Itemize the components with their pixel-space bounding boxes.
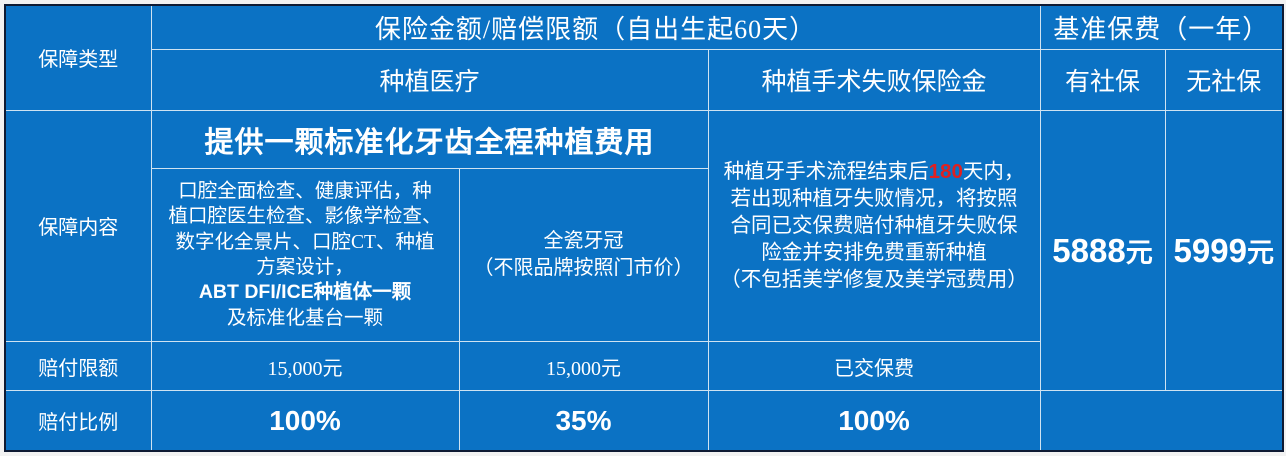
header-sum-insured: 保险金额/赔偿限额（自出生起60天） — [151, 5, 1040, 49]
detail-line4: 方案设计， — [256, 257, 354, 278]
coverage-banner: 提供一颗标准化牙齿全程种植费用 — [151, 110, 708, 168]
premium-with-social-unit: 元 — [1126, 238, 1153, 268]
premium-with-social-insurance: 5888元 — [1040, 110, 1165, 390]
failure-desc-line2: 若出现种植牙失败情况，将按照 — [731, 188, 1018, 210]
implant-medical-details: 口腔全面检查、健康评估，种 植口腔医生检查、影像学检查、 数字化全景片、口腔CT… — [151, 169, 459, 342]
ceramic-crown-details: 全瓷牙冠 （不限品牌按照门市价） — [459, 169, 708, 342]
premium-without-social-unit: 元 — [1247, 238, 1274, 268]
failure-desc-line5: （不包括美学修复及美学冠费用） — [720, 269, 1028, 291]
detail-abutment: 及标准化基台一颗 — [156, 306, 455, 331]
header-implant-failure: 种植手术失败保险金 — [708, 49, 1040, 110]
failure-desc-days: 180 — [929, 160, 963, 183]
failure-desc-line1-tail: 天内， — [963, 161, 1025, 183]
failure-desc-line3: 合同已交保费赔付种植牙失败保 — [731, 215, 1018, 237]
failure-desc-line4: 险金并安排免费重新种植 — [761, 242, 987, 264]
header-coverage-type: 保障类型 — [5, 5, 151, 110]
row-label-coverage-content: 保障内容 — [5, 110, 151, 341]
detail-line3: 数字化全景片、口腔CT、种植 — [176, 232, 435, 253]
header-base-premium: 基准保费（一年） — [1040, 5, 1283, 49]
coverage-table-sheet: 保障类型 保险金额/赔偿限额（自出生起60天） 基准保费（一年） 种植医疗 种植… — [0, 0, 1286, 456]
implant-failure-description: 种植牙手术流程结束后180天内， 若出现种植牙失败情况，将按照 合同已交保费赔付… — [708, 110, 1040, 341]
row-label-payout-ratio: 赔付比例 — [5, 391, 151, 451]
premium-with-social-amount: 5888 — [1052, 232, 1125, 269]
payout-limit-crown: 15,000元 — [459, 341, 708, 390]
payout-ratio-implant-failure: 100% — [708, 391, 1040, 451]
insurance-coverage-table: 保障类型 保险金额/赔偿限额（自出生起60天） 基准保费（一年） 种植医疗 种植… — [4, 4, 1284, 452]
crown-name: 全瓷牙冠 — [544, 230, 624, 252]
payout-ratio-row: 赔付比例 100% 35% 100% — [5, 391, 1283, 451]
header-with-social-insurance: 有社保 — [1040, 49, 1165, 110]
header-implant-medical: 种植医疗 — [151, 49, 708, 110]
payout-ratio-crown: 35% — [459, 391, 708, 451]
payout-limit-implant-medical: 15,000元 — [151, 341, 459, 390]
failure-desc-pre: 种植牙手术流程结束后 — [724, 161, 929, 183]
payout-ratio-implant-medical: 100% — [151, 391, 459, 451]
header-row-1: 保障类型 保险金额/赔偿限额（自出生起60天） 基准保费（一年） — [5, 5, 1283, 49]
detail-line2: 植口腔医生检查、影像学检查、 — [168, 206, 441, 227]
detail-implant-body: ABT DFI/ICE种植体一颗 — [156, 280, 455, 305]
crown-note: （不限品牌按照门市价） — [474, 257, 694, 279]
coverage-content-banner-row: 保障内容 提供一颗标准化牙齿全程种植费用 种植牙手术流程结束后180天内， 若出… — [5, 110, 1283, 168]
header-without-social-insurance: 无社保 — [1165, 49, 1283, 110]
row-label-payout-limit: 赔付限额 — [5, 341, 151, 390]
payout-limit-implant-failure: 已交保费 — [708, 341, 1040, 390]
detail-line1: 口腔全面检查、健康评估，种 — [178, 181, 432, 202]
premium-without-social-amount: 5999 — [1174, 232, 1247, 269]
header-row-2: 种植医疗 种植手术失败保险金 有社保 无社保 — [5, 49, 1283, 110]
premium-without-social-insurance: 5999元 — [1165, 110, 1283, 390]
